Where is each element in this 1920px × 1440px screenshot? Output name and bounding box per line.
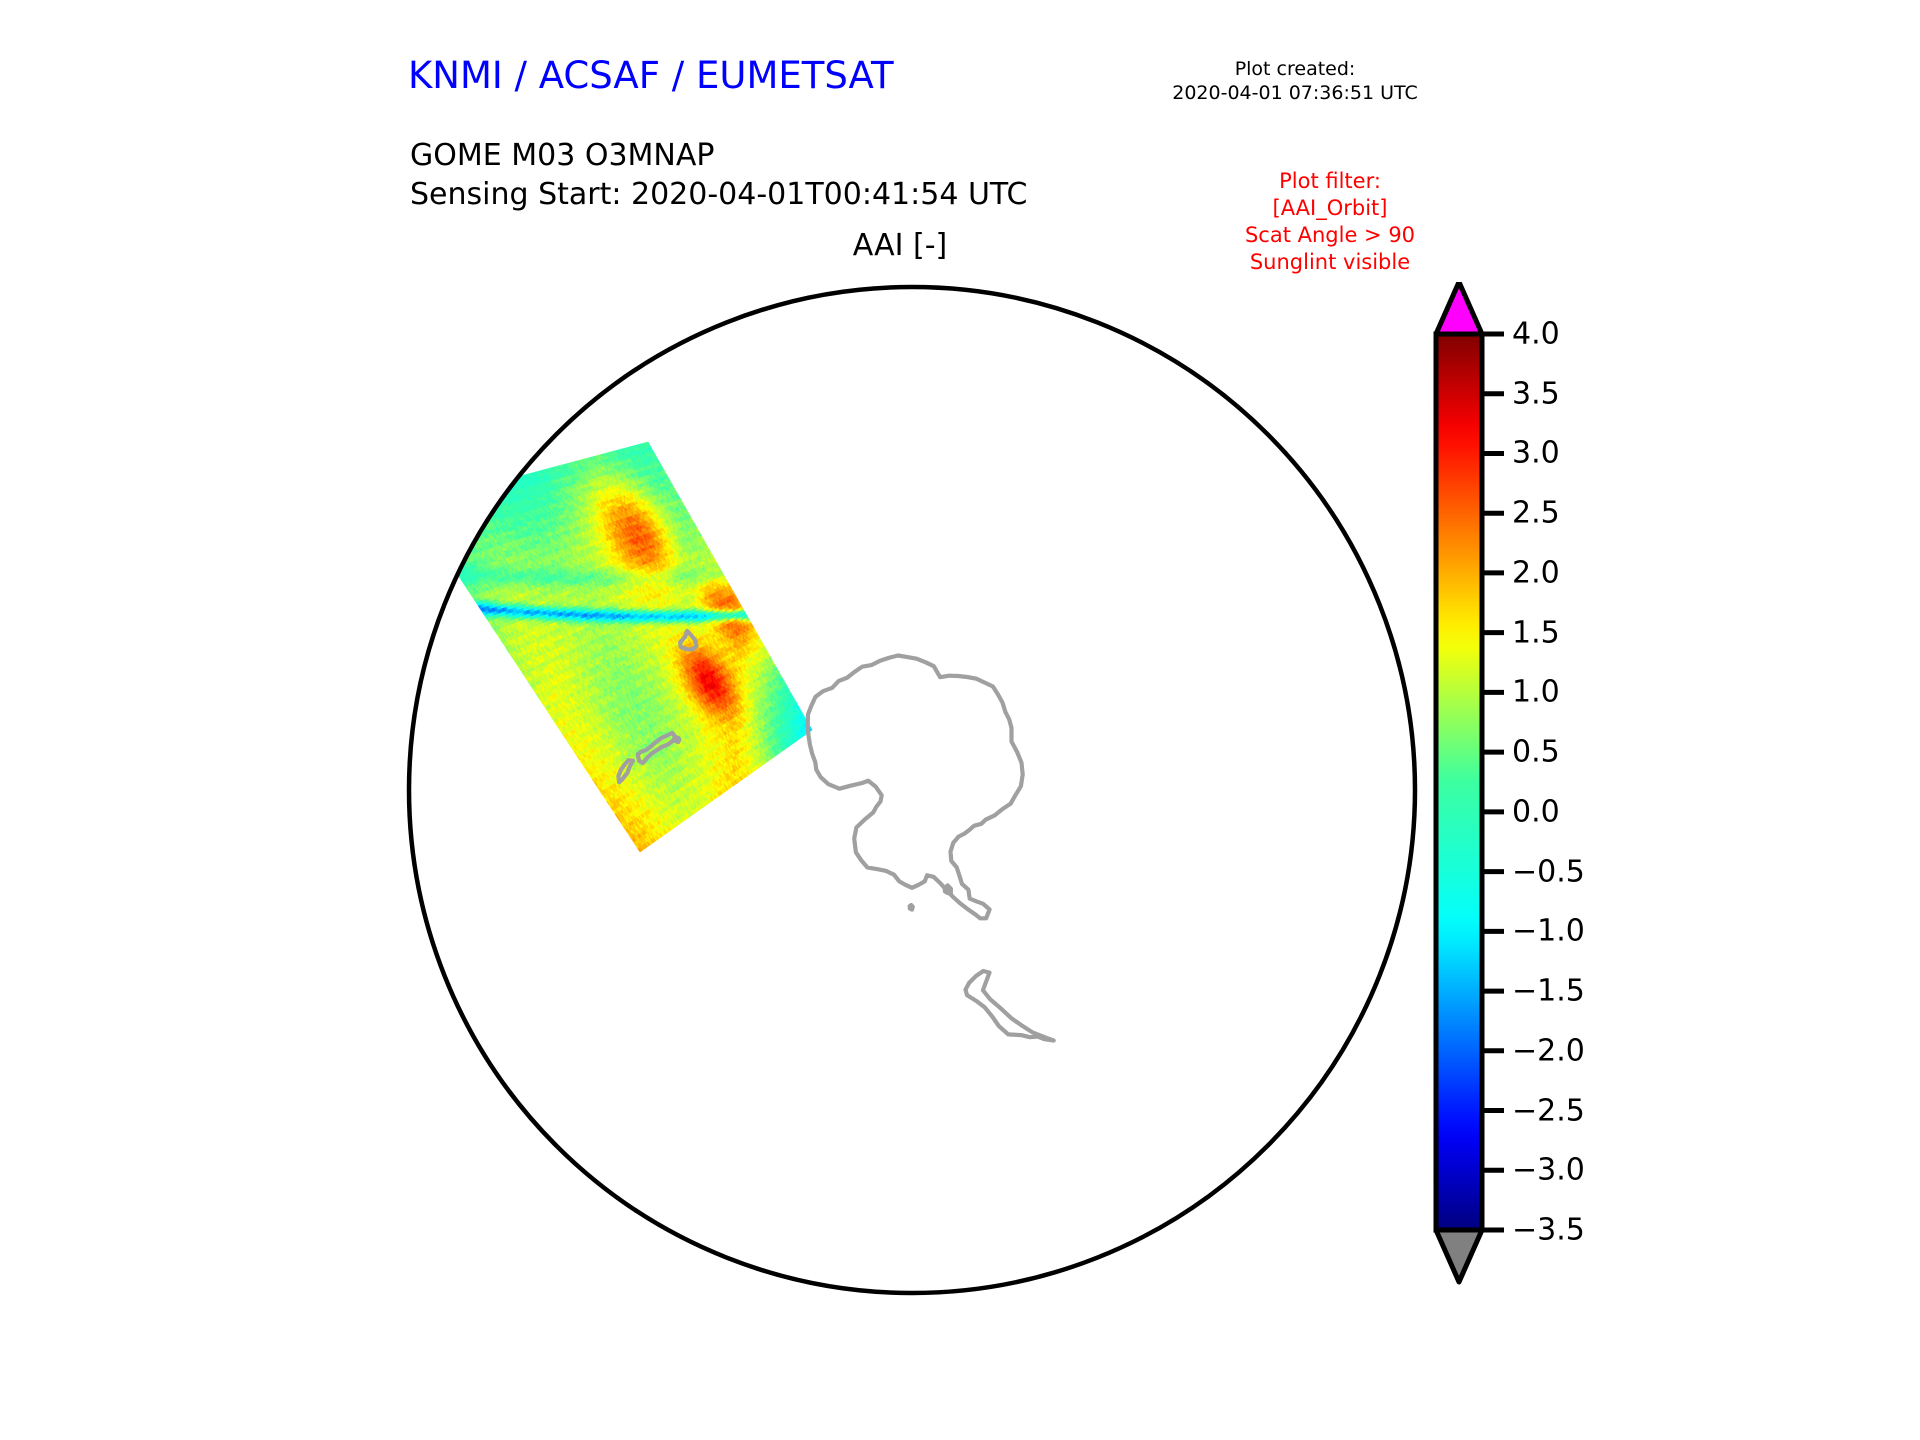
swath-pixel — [430, 526, 434, 530]
swath-pixel — [460, 528, 464, 532]
swath-pixel — [447, 524, 451, 528]
swath-pixel — [475, 488, 479, 491]
swath-pixel — [437, 531, 441, 535]
swath-pixel — [444, 533, 448, 537]
swath-pixel — [472, 492, 476, 495]
swath-pixel — [447, 536, 451, 540]
swath-pixel — [440, 505, 444, 509]
swath-pixel — [481, 500, 485, 504]
swath-pixel — [465, 498, 469, 502]
swath-pixel — [444, 511, 448, 515]
swath-pixel — [446, 528, 450, 532]
swath-pixel — [467, 493, 471, 497]
swath-pixel — [498, 489, 501, 492]
swath-pixel — [493, 493, 496, 496]
swath-pixel — [452, 538, 456, 542]
swath-pixel — [456, 555, 460, 559]
swath-pixel — [454, 504, 458, 508]
swath-pixel — [486, 488, 489, 492]
swath-pixel — [496, 486, 499, 489]
swath-pixel — [471, 496, 475, 500]
swath-pixel — [488, 505, 491, 508]
swath-pixel — [423, 513, 427, 517]
swath-pixel — [495, 482, 498, 485]
swath-pixel — [431, 533, 435, 537]
swath-pixel — [458, 544, 462, 548]
swath-pixel — [445, 518, 449, 522]
swath-pixel — [485, 496, 488, 499]
swath-pixel — [459, 551, 463, 555]
swath-pixel — [483, 500, 487, 504]
swath-pixel — [460, 535, 464, 539]
swath-pixel — [466, 494, 470, 497]
swath-pixel — [491, 501, 495, 504]
swath-pixel — [494, 486, 498, 489]
swath-pixel — [465, 541, 469, 545]
swath-pixel — [469, 511, 473, 515]
swath-pixel — [478, 519, 482, 523]
swath-pixel — [456, 552, 460, 556]
swath-pixel — [439, 546, 443, 550]
swath-pixel — [480, 487, 483, 490]
swath-pixel — [467, 526, 471, 530]
swath-pixel — [464, 509, 468, 513]
swath-pixel — [470, 529, 474, 533]
swath-pixel — [443, 541, 447, 545]
swath-pixel — [441, 515, 445, 519]
swath-pixel — [475, 505, 479, 509]
swath-pixel — [456, 522, 460, 526]
swath-pixel — [463, 512, 467, 516]
swath-pixel — [451, 505, 455, 509]
swath-pixel — [426, 523, 430, 527]
swath-pixel — [414, 508, 418, 512]
swath-pixel — [449, 516, 453, 520]
swath-pixel — [464, 502, 468, 506]
swath-pixel — [451, 561, 455, 565]
swath-pixel — [453, 545, 457, 549]
swath-pixel — [449, 550, 453, 554]
swath-pixel — [473, 502, 477, 506]
swath-pixel — [459, 521, 463, 525]
swath-pixel — [455, 559, 459, 563]
swath-pixel — [437, 509, 441, 513]
swath-pixel — [453, 512, 457, 515]
swath-pixel — [465, 538, 469, 542]
swath-pixel — [447, 558, 451, 562]
swath-pixel — [422, 509, 426, 513]
swath-pixel — [461, 492, 465, 495]
swath-pixel — [475, 502, 479, 505]
swath-pixel — [486, 485, 490, 488]
swath-pixel — [480, 501, 484, 504]
swath-pixel — [484, 499, 487, 502]
swath-pixel — [487, 499, 490, 502]
swath-pixel — [440, 497, 444, 501]
swath-pixel — [450, 505, 454, 509]
swath-pixel — [459, 514, 463, 518]
swath-pixel — [454, 537, 458, 541]
swath-pixel — [453, 508, 457, 512]
swath-pixel — [486, 502, 489, 505]
swath-pixel — [452, 498, 456, 502]
swath-pixel — [489, 502, 492, 505]
swath-pixel — [450, 520, 454, 524]
swath-pixel — [479, 508, 483, 512]
swath-pixel — [444, 522, 448, 526]
swath-pixel — [451, 516, 455, 520]
swath-pixel — [448, 550, 452, 554]
swath-pixel — [478, 498, 481, 501]
swath-pixel — [439, 497, 443, 501]
swath-pixel — [465, 527, 469, 531]
swath-pixel — [449, 513, 453, 517]
swath-pixel — [484, 485, 487, 488]
swath-pixel — [494, 490, 498, 493]
swath-pixel — [477, 523, 481, 527]
swath-pixel — [490, 494, 493, 497]
swath-pixel — [482, 507, 486, 510]
swath-pixel — [432, 533, 436, 537]
swath-pixel — [442, 511, 446, 514]
swath-pixel — [486, 506, 490, 510]
swath-pixel — [439, 501, 443, 505]
swath-pixel — [441, 526, 445, 530]
swath-pixel — [438, 520, 442, 524]
swath-pixel — [455, 522, 459, 526]
swath-pixel — [457, 525, 461, 529]
swath-pixel — [446, 506, 450, 510]
swath-pixel — [440, 519, 444, 523]
swath-pixel — [431, 503, 435, 507]
swath-pixel — [453, 530, 457, 534]
swath-pixel — [480, 493, 484, 496]
swath-pixel — [446, 547, 450, 551]
swath-pixel — [480, 519, 484, 523]
swath-pixel — [470, 525, 474, 529]
swath-pixel — [467, 504, 471, 507]
swath-pixel — [419, 507, 423, 511]
swath-pixel — [434, 499, 438, 503]
swath-pixel — [451, 553, 455, 557]
swath-pixel — [431, 514, 435, 518]
swath-pixel — [458, 492, 462, 496]
swath-pixel — [468, 522, 472, 526]
swath-pixel — [468, 526, 472, 530]
swath-pixel — [444, 503, 448, 507]
swath-pixel — [463, 546, 467, 550]
swath-pixel — [432, 521, 436, 525]
swath-pixel — [468, 500, 472, 504]
swath-pixel — [440, 534, 444, 538]
swath-pixel — [454, 568, 458, 572]
swath-pixel — [484, 510, 488, 513]
swath-pixel — [436, 513, 440, 517]
swath-pixel — [500, 484, 503, 487]
swath-pixel — [492, 483, 496, 486]
swath-pixel — [459, 517, 463, 521]
swath-pixel — [454, 560, 458, 564]
swath-pixel — [467, 533, 471, 537]
swath-pixel — [429, 500, 433, 504]
swath-pixel — [484, 496, 488, 500]
swath-pixel — [422, 520, 426, 524]
swath-pixel — [440, 523, 444, 527]
swath-pixel — [434, 510, 438, 514]
swath-pixel — [491, 484, 494, 487]
swath-pixel — [447, 555, 451, 559]
swath-pixel — [430, 504, 434, 508]
swath-pixel — [489, 484, 492, 487]
swath-pixel — [454, 515, 458, 519]
swath-pixel — [445, 529, 449, 533]
swath-pixel — [492, 497, 495, 500]
swath-pixel — [461, 520, 465, 524]
swath-pixel — [491, 487, 494, 490]
swath-pixel — [440, 516, 444, 520]
swath-pixel — [443, 518, 447, 522]
swath-pixel — [464, 491, 468, 495]
swath-pixel — [461, 524, 465, 528]
swath-pixel — [448, 543, 452, 547]
swath-pixel — [499, 488, 502, 491]
swath-pixel — [443, 526, 447, 530]
swath-pixel — [465, 516, 469, 520]
swath-pixel — [483, 489, 487, 492]
swath-pixel — [435, 517, 439, 521]
swath-pixel — [447, 521, 451, 525]
swath-pixel — [452, 534, 456, 538]
swath-pixel — [428, 504, 432, 508]
swath-pixel — [423, 502, 427, 506]
swath-pixel — [425, 505, 429, 509]
swath-pixel — [485, 489, 489, 492]
swath-pixel — [433, 528, 437, 532]
swath-pixel — [470, 514, 474, 518]
swath-pixel — [485, 503, 489, 507]
swath-pixel — [440, 508, 444, 512]
swath-pixel — [445, 507, 449, 511]
swath-pixel — [472, 532, 476, 536]
swath-pixel — [448, 517, 452, 521]
swath-pixel — [475, 520, 479, 524]
swath-pixel — [472, 506, 476, 510]
swath-pixel — [471, 507, 475, 510]
swath-pixel — [462, 539, 466, 543]
swath-pixel — [467, 515, 471, 519]
swath-pixel — [424, 520, 428, 524]
swath-pixel — [469, 522, 473, 526]
swath-pixel — [444, 537, 448, 541]
swath-pixel — [431, 525, 435, 529]
swath-pixel — [459, 532, 463, 536]
swath-pixel — [438, 505, 442, 509]
swath-pixel — [418, 514, 422, 518]
swath-pixel — [462, 502, 466, 506]
swath-pixel — [436, 535, 440, 539]
swath-pixel — [447, 495, 451, 499]
swath-pixel — [443, 507, 447, 511]
swath-pixel — [420, 506, 424, 510]
swath-pixel — [464, 505, 468, 509]
swath-pixel — [454, 519, 458, 523]
swath-pixel — [482, 490, 485, 493]
swath-pixel — [459, 503, 463, 507]
swath-pixel — [452, 501, 456, 505]
swath-pixel — [478, 487, 482, 491]
swath-pixel — [474, 506, 478, 510]
swath-pixel — [472, 503, 476, 506]
swath-pixel — [462, 506, 466, 510]
swath-pixel — [466, 519, 470, 523]
swath-pixel — [481, 497, 485, 500]
swath-pixel — [458, 555, 462, 559]
swath-pixel — [438, 516, 442, 520]
swath-pixel — [435, 509, 439, 513]
swath-pixel — [428, 526, 432, 530]
swath-pixel — [476, 523, 480, 527]
swath-pixel — [435, 539, 439, 543]
swath-pixel — [437, 524, 441, 528]
swath-pixel — [482, 493, 486, 497]
swath-pixel — [441, 549, 445, 553]
swath-pixel — [426, 520, 430, 524]
swath-pixel — [506, 479, 509, 482]
swath-pixel — [429, 508, 433, 512]
swath-pixel — [447, 510, 451, 514]
swath-pixel — [435, 528, 439, 532]
swath-pixel — [468, 497, 472, 500]
swath-pixel — [469, 490, 473, 493]
swath-pixel — [462, 499, 466, 503]
swath-pixel — [465, 512, 469, 516]
swath-pixel — [446, 551, 450, 555]
swath-pixel — [449, 535, 453, 539]
swath-pixel — [482, 496, 486, 499]
swath-pixel — [420, 517, 424, 521]
swath-pixel — [454, 526, 458, 530]
swath-pixel — [457, 548, 461, 552]
swath-pixel — [448, 502, 452, 506]
swath-pixel — [445, 532, 449, 536]
swath-pixel — [455, 515, 459, 519]
swath-pixel — [479, 494, 482, 497]
swath-pixel — [464, 542, 468, 546]
swath-pixel — [504, 484, 507, 487]
swath-pixel — [476, 509, 480, 513]
swath-pixel — [461, 546, 465, 550]
swath-pixel — [475, 516, 478, 520]
swath-pixel — [457, 511, 461, 515]
swath-pixel — [439, 512, 443, 516]
swath-pixel — [477, 487, 481, 490]
swath-pixel — [427, 515, 431, 519]
swath-pixel — [443, 515, 447, 519]
swath-pixel — [442, 508, 446, 512]
swath-pixel — [416, 507, 420, 511]
swath-pixel — [485, 506, 489, 509]
swath-pixel — [463, 498, 467, 501]
swath-pixel — [471, 510, 475, 514]
swath-pixel — [434, 524, 438, 528]
swath-pixel — [458, 507, 462, 511]
swath-pixel — [452, 549, 456, 553]
swath-pixel — [441, 504, 445, 508]
swath-pixel — [467, 490, 471, 493]
swath-pixel — [425, 512, 429, 516]
swath-pixel — [470, 503, 474, 507]
swath-pixel — [474, 524, 478, 528]
swath-pixel — [427, 504, 431, 508]
swath-pixel — [450, 498, 454, 502]
swath-pixel — [443, 504, 447, 508]
swath-pixel — [488, 491, 491, 495]
swath-pixel — [476, 495, 480, 498]
swath-pixel — [473, 488, 477, 491]
swath-pixel — [455, 556, 459, 560]
swath-pixel — [477, 519, 481, 523]
swath-pixel — [425, 516, 429, 520]
swath-pixel — [443, 529, 447, 533]
swath-pixel — [432, 507, 436, 511]
swath-pixel — [432, 518, 436, 522]
swath-pixel — [454, 549, 458, 553]
swath-pixel — [457, 536, 461, 540]
swath-pixel — [461, 495, 465, 499]
swath-pixel — [433, 517, 437, 521]
swath-pixel — [462, 542, 466, 546]
swath-pixel — [461, 509, 465, 513]
swath-pixel — [420, 514, 424, 518]
swath-pixel — [442, 533, 446, 537]
swath-pixel — [463, 495, 467, 499]
swath-pixel — [480, 515, 484, 519]
swath-pixel — [439, 523, 443, 527]
swath-pixel — [458, 525, 462, 529]
swath-pixel — [448, 506, 452, 510]
swath-pixel — [454, 564, 458, 568]
swath-pixel — [485, 492, 489, 495]
swath-pixel — [445, 496, 449, 500]
swath-pixel — [449, 524, 453, 528]
swath-pixel — [462, 550, 466, 554]
swath-pixel — [505, 480, 508, 483]
swath-pixel — [468, 511, 472, 514]
swath-pixel — [432, 529, 436, 533]
swath-pixel — [473, 513, 477, 517]
swath-pixel — [468, 537, 472, 541]
swath-pixel — [473, 496, 477, 500]
swath-pixel — [454, 541, 458, 545]
swath-pixel — [471, 532, 475, 536]
swath-pixel — [477, 494, 481, 498]
swath-pixel — [449, 502, 453, 506]
swath-pixel — [453, 497, 457, 501]
swath-pixel — [438, 542, 442, 546]
swath-pixel — [466, 523, 470, 527]
swath-pixel — [452, 523, 456, 527]
swath-pixel — [459, 543, 463, 547]
swath-pixel — [483, 507, 487, 511]
swath-pixel — [455, 497, 459, 501]
swath-pixel — [439, 538, 443, 542]
swath-pixel — [442, 500, 446, 504]
swath-pixel — [450, 509, 454, 513]
swath-pixel — [424, 505, 428, 509]
swath-pixel — [474, 495, 478, 498]
swath-pixel — [474, 520, 478, 524]
plot-page: KNMI / ACSAF / EUMETSAT Plot created: 20… — [0, 0, 1920, 1440]
